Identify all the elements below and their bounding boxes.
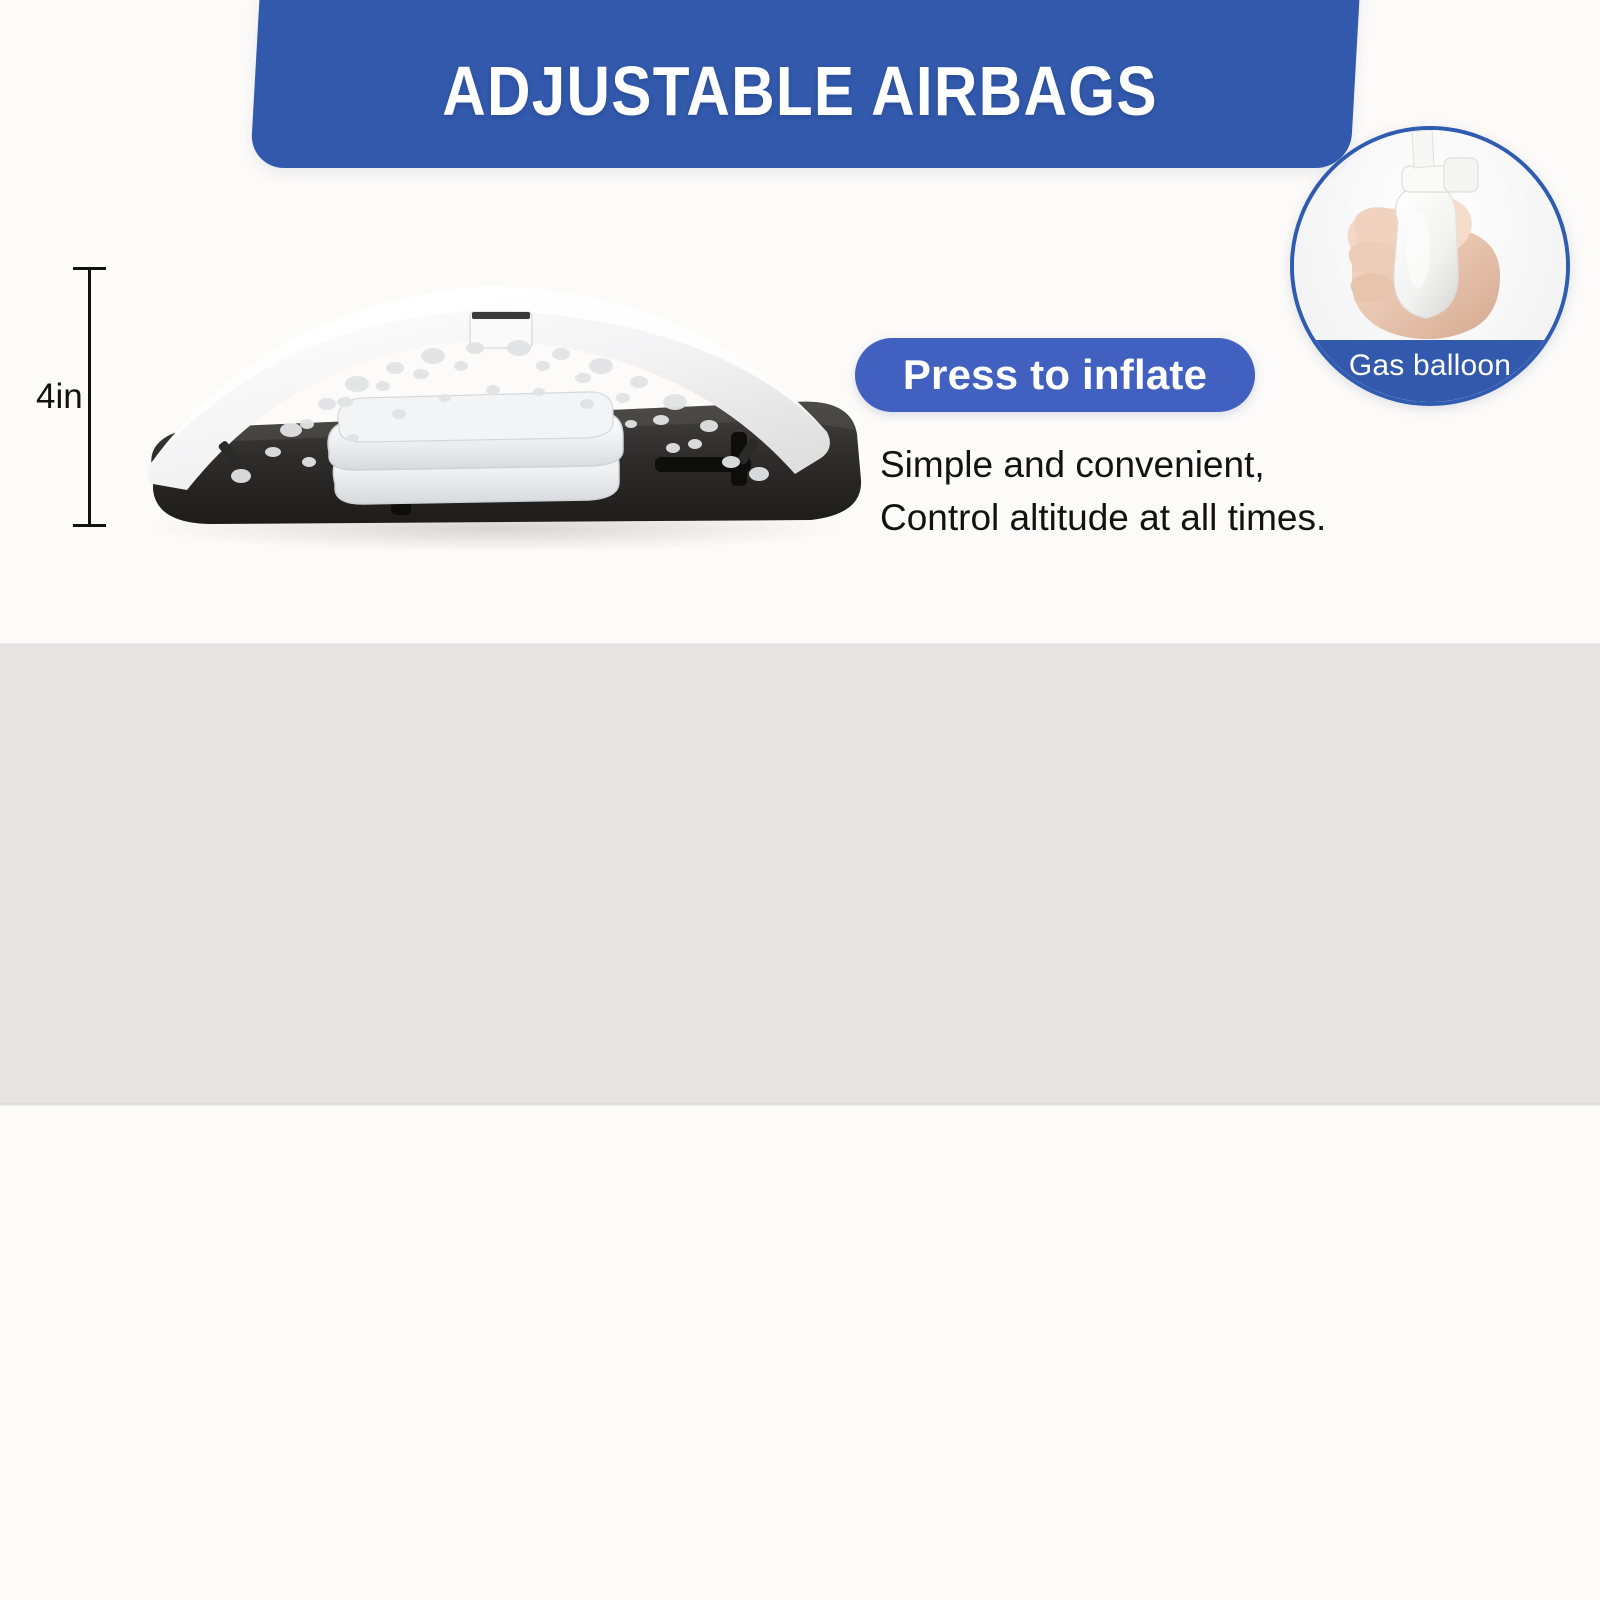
dimension-cap-top	[73, 267, 106, 270]
panel-divider-top	[0, 643, 1600, 646]
dimension-cap-bottom	[73, 524, 106, 527]
description-line: Simple and convenient,	[880, 438, 1326, 491]
dimension-label: 4in	[36, 377, 83, 417]
panel-divider-bottom	[0, 1103, 1600, 1106]
badge-press-to-inflate[interactable]: Press to inflate	[855, 338, 1255, 412]
product-image-medium-arch	[95, 252, 885, 552]
infographic-page: 4in Press to inflate Simple and convenie…	[0, 0, 1600, 1600]
inset-gas-balloon: Gas balloon	[1290, 126, 1570, 406]
panel-air-bag: Air bag Inflatable air bag, The maximum …	[0, 645, 1600, 1105]
description-line: Control altitude at all times.	[880, 491, 1326, 544]
inset-caption-gas-balloon: Gas balloon	[1294, 340, 1566, 402]
dimension-line	[88, 267, 91, 527]
description-press-to-inflate: Simple and convenient, Control altitude …	[880, 438, 1326, 544]
panel-deflation-valve: 1.6in Deflation valve Push the button, R…	[0, 1105, 1600, 1600]
page-title: ADJUSTABLE AIRBAGS	[370, 16, 1230, 166]
